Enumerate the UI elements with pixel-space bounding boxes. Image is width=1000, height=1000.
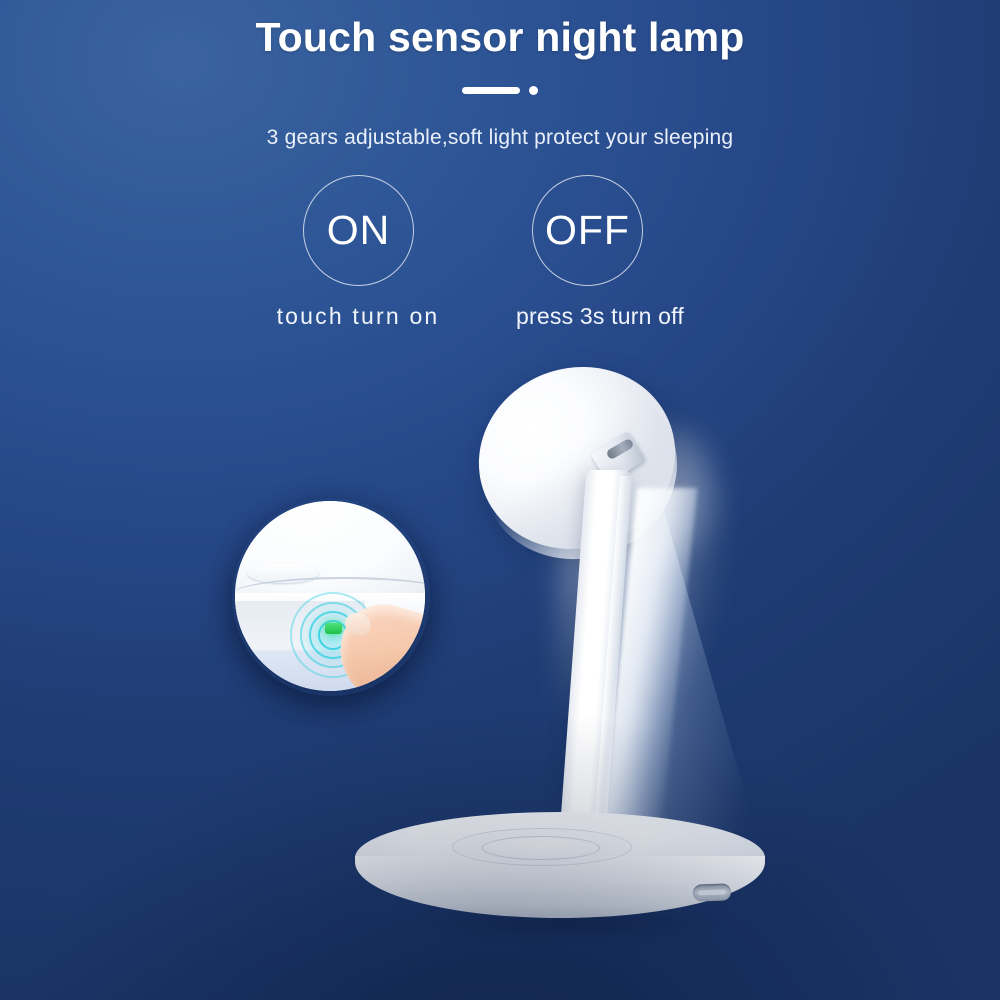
- usb-c-port-icon: [693, 883, 732, 901]
- touch-detail-inset: [235, 501, 425, 691]
- product-banner: Touch sensor night lamp 3 gears adjustab…: [0, 0, 1000, 1000]
- wireless-charging-pad-inner: [482, 836, 600, 860]
- lamp-illustration: [0, 0, 1000, 1000]
- green-led-indicator-icon: [325, 623, 342, 634]
